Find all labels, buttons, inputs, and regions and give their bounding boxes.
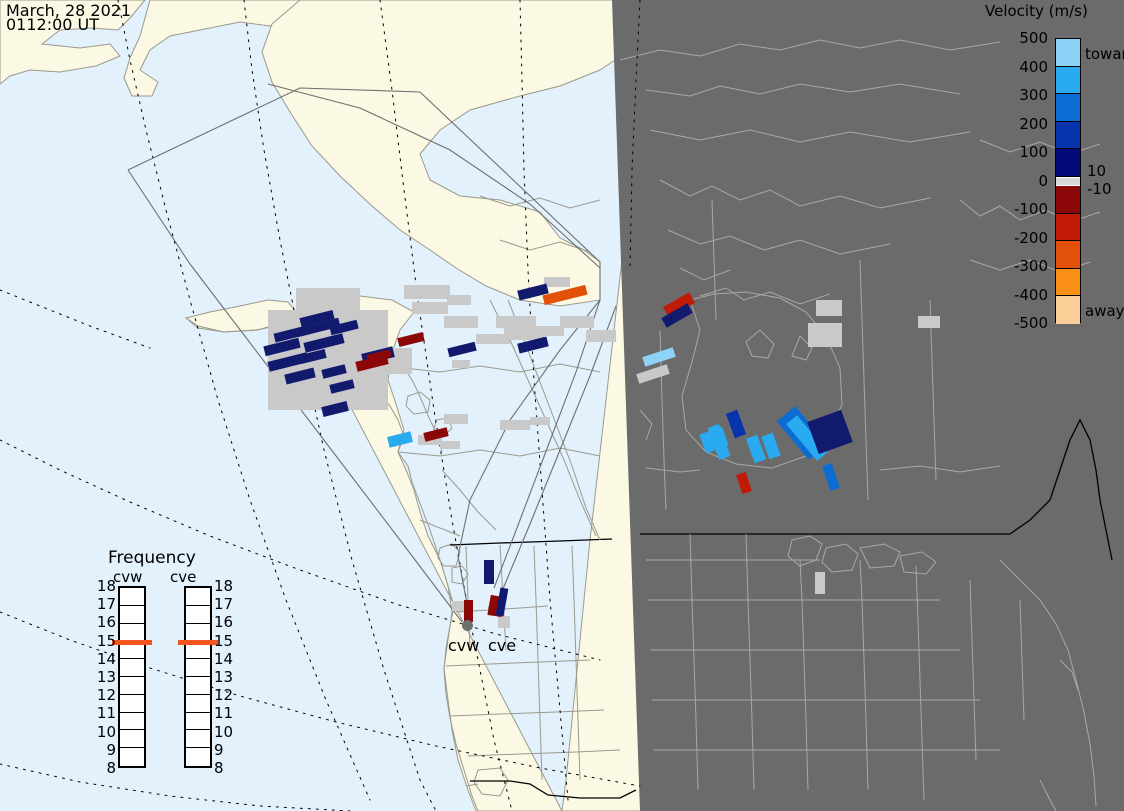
velocity-cell [284,368,316,385]
velocity-cell [267,352,308,371]
velocity-cell [736,472,752,494]
colorbar-tick--500: -500 [1000,314,1048,332]
timestamp-time: 0112:00 UT [6,16,99,33]
frequency-tick-10: 10 [90,723,116,741]
colorbar-tick--100: -100 [1000,200,1048,218]
frequency-bar-cvw [118,586,146,768]
frequency-tick-13: 13 [90,668,116,686]
colorbar-band-1 [1056,67,1080,95]
velocity-cell [726,410,746,439]
colorbar-tick--300: -300 [1000,257,1048,275]
superdarn-fan-plot: cvw cve March, 28 2021 0112:00 UT Veloci… [0,0,1124,811]
frequency-tick-17: 17 [214,595,240,613]
radar-label-cve: cve [488,636,516,655]
colorbar-band-5 [1056,177,1080,186]
velocity-cell [464,600,473,622]
colorbar-tick-400: 400 [1000,58,1048,76]
frequency-tick-15: 15 [214,632,240,650]
colorbar-band-8 [1056,241,1080,269]
frequency-cell [186,606,210,624]
colorbar-tick-200: 200 [1000,115,1048,133]
radar-label-cvw: cvw [448,636,479,655]
colorbar-band-7 [1056,214,1080,242]
frequency-cell [186,588,210,606]
frequency-cell [120,624,144,642]
velocity-cell [636,364,670,383]
frequency-cell [186,624,210,642]
velocity-cell-layer [0,0,1124,811]
velocity-cell [447,342,476,358]
frequency-cell [120,588,144,606]
colorbar-band-4 [1056,149,1080,177]
frequency-cell [120,659,144,677]
colorbar-band-9 [1056,269,1080,297]
frequency-cell [186,730,210,748]
colorbar-title: Velocity (m/s) [985,2,1088,20]
frequency-tick-18: 18 [214,577,240,595]
frequency-tick-14: 14 [214,650,240,668]
frequency-tick-15: 15 [90,632,116,650]
frequency-tick-10: 10 [214,723,240,741]
frequency-cell [120,713,144,731]
frequency-tick-18: 18 [90,577,116,595]
colorbar-negative-threshold: -10 [1087,180,1112,198]
velocity-cell [387,431,413,447]
velocity-cell [321,401,349,417]
colorbar-tick--200: -200 [1000,229,1048,247]
colorbar-band-10 [1056,296,1080,324]
colorbar-band-0 [1056,39,1080,67]
frequency-cell [186,713,210,731]
velocity-cell [642,347,676,366]
colorbar-away-label: away [1085,302,1124,320]
velocity-cell [484,560,494,584]
frequency-tick-12: 12 [90,686,116,704]
frequency-cell [120,606,144,624]
colorbar-band-3 [1056,122,1080,150]
colorbar-tick-300: 300 [1000,86,1048,104]
colorbar-tick--400: -400 [1000,286,1048,304]
frequency-column-cve: cve [170,568,196,586]
colorbar-positive-threshold: 10 [1087,162,1106,180]
frequency-tick-16: 16 [90,613,116,631]
colorbar-band-6 [1056,186,1080,214]
velocity-cell [397,332,424,347]
frequency-bar-cve [184,586,212,768]
frequency-tick-11: 11 [214,704,240,722]
frequency-cell [186,677,210,695]
colorbar-band-2 [1056,94,1080,122]
frequency-legend-title: Frequency [108,548,196,568]
frequency-cell [186,695,210,713]
velocity-cell [542,285,587,305]
colorbar-tick-0: 0 [1000,172,1048,190]
frequency-tick-13: 13 [214,668,240,686]
frequency-tick-16: 16 [214,613,240,631]
frequency-cell [120,748,144,766]
frequency-column-cvw: cvw [113,568,142,586]
frequency-tick-11: 11 [90,704,116,722]
frequency-tick-17: 17 [90,595,116,613]
colorbar-toward-label: toward [1085,45,1124,63]
frequency-tick-8: 8 [214,759,240,777]
frequency-tick-8: 8 [90,759,116,777]
frequency-tick-14: 14 [90,650,116,668]
frequency-tick-12: 12 [214,686,240,704]
frequency-cell [186,659,210,677]
velocity-cell [423,427,448,442]
velocity-cell [321,364,346,379]
velocity-cell [517,337,549,354]
colorbar-tick-500: 500 [1000,29,1048,47]
frequency-tick-9: 9 [214,741,240,759]
colorbar-tick-100: 100 [1000,143,1048,161]
velocity-cell [496,588,509,617]
frequency-marker-cve [178,640,218,645]
frequency-cell [120,695,144,713]
frequency-marker-cvw [112,640,152,645]
velocity-cell [329,379,354,394]
frequency-cell [186,748,210,766]
frequency-cell [120,730,144,748]
frequency-cell [120,677,144,695]
radar-site-marker [462,620,473,631]
velocity-cell [822,463,840,491]
frequency-tick-9: 9 [90,741,116,759]
colorbar-gradient [1055,38,1081,323]
